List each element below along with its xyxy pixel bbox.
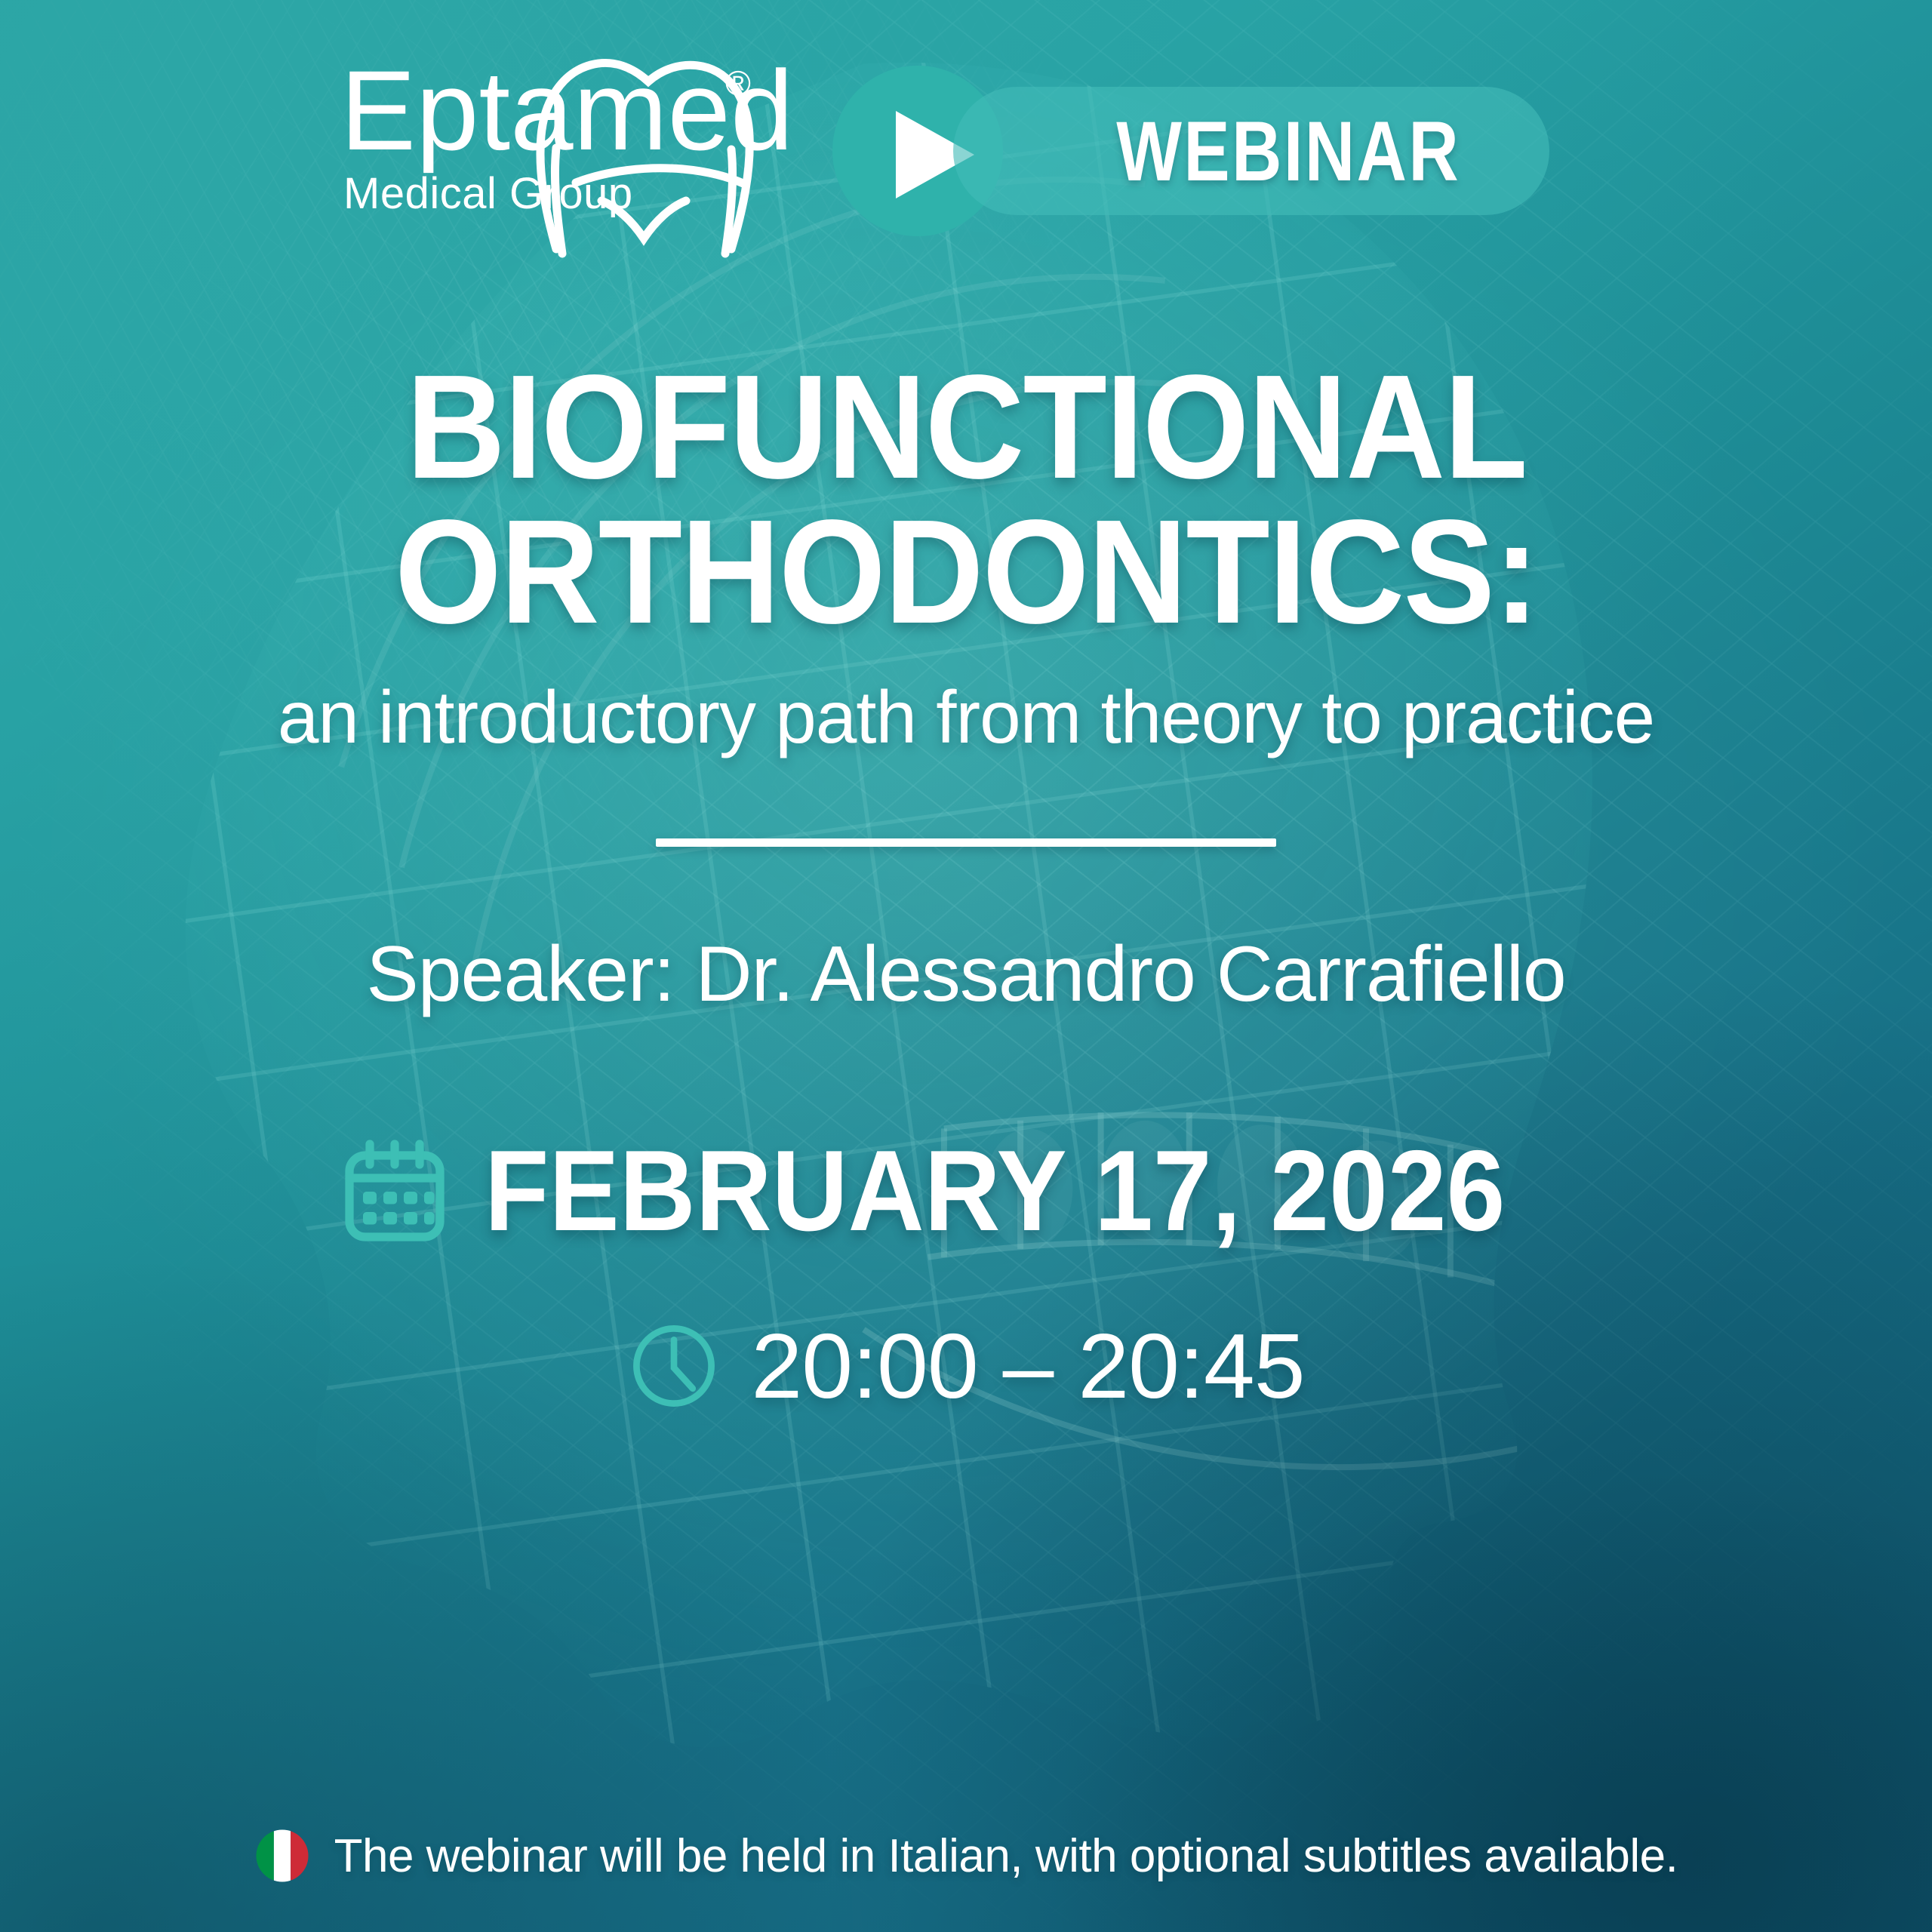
divider: [656, 838, 1276, 847]
header-row: Eptamed ® Medical Group WEBINAR: [0, 0, 1932, 302]
poster-content: Eptamed ® Medical Group WEBINAR BIOFUNCT…: [0, 0, 1932, 1932]
webinar-label: WEBINAR: [1007, 87, 1496, 215]
time-value: 20:00 – 20:45: [751, 1313, 1304, 1419]
title-line-1: BIOFUNCTIONAL: [395, 355, 1538, 500]
time-row: 20:00 – 20:45: [627, 1313, 1304, 1419]
logo-trademark-symbol: ®: [725, 63, 751, 103]
webinar-poster: Eptamed ® Medical Group WEBINAR BIOFUNCT…: [0, 0, 1932, 1932]
footer-note: The webinar will be held in Italian, wit…: [0, 1828, 1932, 1884]
webinar-badge[interactable]: WEBINAR: [819, 64, 1596, 238]
calendar-icon: [338, 1135, 451, 1248]
logo-artwork: Eptamed ® Medical Group: [336, 23, 834, 279]
clock-icon: [627, 1319, 721, 1413]
page-title: BIOFUNCTIONAL ORTHODONTICS:: [395, 355, 1538, 645]
speaker-line: Speaker: Dr. Alessandro Carrafiello: [366, 930, 1565, 1020]
footer-text: The webinar will be held in Italian, wit…: [334, 1829, 1678, 1883]
title-line-2: ORTHODONTICS:: [395, 500, 1538, 645]
eptamed-logo: Eptamed ® Medical Group: [336, 23, 834, 279]
italy-flag-icon: [254, 1828, 310, 1884]
page-subtitle: an introductory path from theory to prac…: [278, 675, 1654, 760]
logo-tagline: Medical Group: [343, 169, 633, 218]
date-row: FEBRUARY 17, 2026: [338, 1125, 1594, 1257]
date-value: FEBRUARY 17, 2026: [485, 1125, 1505, 1257]
